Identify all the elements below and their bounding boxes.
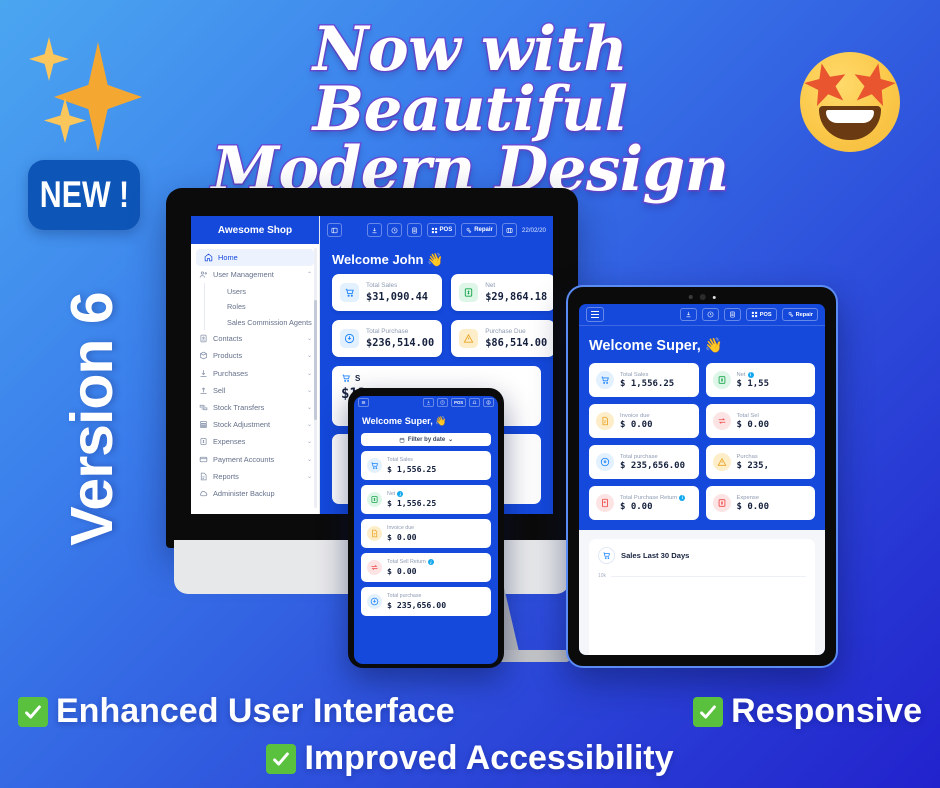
feature-list: Enhanced User Interface Responsive Impro… [0, 692, 940, 778]
stat-card-total-purchase[interactable]: Total purchase $ 235,656.00 [589, 445, 699, 479]
cart-icon [340, 283, 359, 302]
filter-by-date-button[interactable]: Filter by date ⌄ [361, 433, 491, 446]
sidebar-item-user-management[interactable]: User Management ⌃ [191, 266, 319, 283]
feature-responsive: Responsive [693, 692, 922, 731]
stat-value: $86,514.00 [485, 337, 547, 349]
camera-lens-icon [699, 294, 705, 300]
stat-card-body: Total Sell Returni $ 0.00 [387, 559, 434, 576]
phone-mockup: POS Welcome Super, 👋 Filter by date ⌄ To… [348, 388, 504, 668]
stat-label: Net [485, 282, 547, 289]
sparkle-small-icon [29, 37, 69, 81]
sidebar-item-label: Reports [213, 472, 239, 481]
emoji-teeth [826, 110, 874, 123]
grid-icon[interactable] [502, 223, 517, 237]
chevron-down-icon: ⌄ [307, 370, 312, 377]
sidebar-subitem-roles[interactable]: Roles [204, 299, 319, 315]
stat-label: Total Purchase [366, 328, 434, 335]
bell-icon[interactable] [469, 398, 480, 407]
cart-icon [596, 371, 614, 389]
chart-header: Sales Last 30 Days [598, 547, 806, 564]
stat-value: $29,864.18 [485, 291, 547, 303]
stat-card-total-sell-return[interactable]: Total Sell Returni $ 0.00 [361, 553, 491, 582]
check-mark-icon [693, 697, 723, 727]
stat-label: Total Sales [387, 457, 436, 463]
card-icon [199, 455, 208, 464]
download-icon [367, 594, 382, 609]
feature-improved-accessibility: Improved Accessibility [266, 739, 673, 778]
stat-value: $ 1,55 [737, 379, 770, 389]
stat-label: Total Purchase Returni [620, 495, 685, 501]
stat-card-body: Total Sales $ 1,556.25 [387, 457, 436, 474]
chart-title: Sales Last 30 Days [621, 551, 689, 560]
stat-label: Total Sel [737, 413, 770, 419]
stat-value: $ 1,556.25 [387, 498, 436, 508]
clock-icon[interactable] [437, 398, 448, 407]
stat-card-purchase-due[interactable]: Purchas $ 235, [706, 445, 816, 479]
clock-icon[interactable] [387, 223, 402, 237]
chevron-down-icon: ⌄ [307, 456, 312, 463]
sidebar-subitem-sales-commission-agents[interactable]: Sales Commission Agents [204, 315, 319, 331]
check-mark-icon [266, 744, 296, 774]
sidebar-item-payment-accounts[interactable]: Payment Accounts ⌄ [191, 450, 319, 467]
download-icon [199, 369, 208, 378]
return-doc-icon [596, 494, 614, 512]
hamburger-icon[interactable] [358, 398, 369, 407]
layers-icon [199, 420, 208, 429]
pos-button[interactable]: POS [746, 308, 777, 321]
new-badge: NEW ! [28, 160, 140, 230]
sidebar-item-sell[interactable]: Sell ⌄ [191, 382, 319, 399]
phone-frame: POS Welcome Super, 👋 Filter by date ⌄ To… [348, 388, 504, 668]
user-icon[interactable] [483, 398, 494, 407]
stat-card-total-sales[interactable]: Total Sales $ 1,556.25 [361, 451, 491, 480]
stat-value: $ 0.00 [387, 566, 434, 576]
stat-value: $ 0.00 [737, 420, 770, 430]
sidebar-item-label: Administer Backup [213, 489, 275, 498]
camera-dot-icon [689, 295, 693, 299]
stat-value: $31,090.44 [366, 291, 428, 303]
stat-label: Purchase Due [485, 328, 547, 335]
clock-icon[interactable] [702, 308, 719, 321]
headline-line-1: Now with Beautiful [313, 14, 628, 145]
feature-row-bottom: Improved Accessibility [0, 739, 940, 778]
stat-card-net[interactable]: Net $29,864.18 [451, 274, 553, 311]
new-badge-label: NEW ! [39, 174, 128, 216]
feature-row-top: Enhanced User Interface Responsive [0, 692, 940, 731]
sidebar-item-label: Sell [213, 386, 225, 395]
stat-value: $ 235, [737, 461, 770, 471]
sidebar-item-label: Expenses [213, 437, 245, 446]
phone-app-screen: POS Welcome Super, 👋 Filter by date ⌄ To… [354, 396, 498, 664]
chart-gridline [611, 576, 806, 577]
download-icon[interactable] [367, 223, 382, 237]
pos-button[interactable]: POS [427, 223, 457, 237]
repair-button[interactable]: Repair [782, 308, 818, 321]
home-icon [204, 253, 213, 262]
chevron-down-icon: ⌄ [307, 473, 312, 480]
stat-value: $236,514.00 [366, 337, 434, 349]
report-icon [199, 472, 208, 481]
sidebar-subitem-users[interactable]: Users [204, 283, 319, 299]
transfer-icon [199, 403, 208, 412]
warning-icon [459, 329, 478, 348]
stat-card-total-sell-return[interactable]: Total Sel $ 0.00 [706, 404, 816, 438]
pos-label: POS [454, 400, 463, 405]
banknote-icon [713, 371, 731, 389]
sidebar-item-expenses[interactable]: Expenses ⌄ [191, 433, 319, 450]
sales-last-30-days-chart: Sales Last 30 Days 10k [589, 539, 815, 655]
money-icon [713, 494, 731, 512]
info-icon[interactable]: i [428, 559, 434, 565]
invoice-icon [367, 526, 382, 541]
stat-card-body: Total Sel $ 0.00 [737, 413, 770, 430]
stat-label: Invoice due [620, 413, 653, 419]
sidebar-item-label: Stock Adjustment [213, 420, 270, 429]
box-icon [199, 351, 208, 360]
stat-card-net[interactable]: Neti $ 1,55 [706, 363, 816, 397]
download-icon [340, 329, 359, 348]
toolbar-date[interactable]: 22/02/20 [522, 227, 546, 234]
chevron-up-icon: ⌃ [307, 271, 312, 278]
stat-label: Neti [387, 491, 436, 497]
chevron-down-icon: ⌄ [307, 438, 312, 445]
return-icon [713, 412, 731, 430]
stat-card-body: Neti $ 1,556.25 [387, 491, 436, 508]
feature-label: Enhanced User Interface [56, 692, 455, 731]
wide-card-label: S [355, 374, 360, 383]
sidebar-item-label: Home [218, 253, 238, 262]
stat-card-body: Net $29,864.18 [485, 282, 547, 303]
stat-label: Total Sales [620, 372, 674, 378]
upload-icon [199, 386, 208, 395]
stat-card-body: Total Sales $31,090.44 [366, 282, 428, 303]
sidebar-item-label: Payment Accounts [213, 455, 274, 464]
stat-value: $ 0.00 [737, 502, 770, 512]
banknote-icon [459, 283, 478, 302]
tablet-welcome-title: Welcome Super, 👋 [579, 326, 825, 363]
cloud-icon [199, 489, 208, 498]
desktop-sidebar: Awesome Shop Home User Management ⌃ User… [191, 216, 320, 514]
chart-axis-row: 10k [598, 573, 806, 579]
stat-card-body: Total Sales $ 1,556.25 [620, 372, 674, 389]
return-icon [367, 560, 382, 575]
stat-label: Expense [737, 495, 770, 501]
download-icon [596, 453, 614, 471]
cart-icon [367, 458, 382, 473]
chart-y-tick: 10k [598, 573, 606, 579]
chevron-down-icon: ⌄ [307, 404, 312, 411]
stat-card-total-purchase-return[interactable]: Total Purchase Returni $ 0.00 [589, 486, 699, 520]
star-struck-emoji [800, 52, 900, 152]
sidebar-item-home[interactable]: Home [196, 249, 314, 266]
stat-value: $ 235,656.00 [387, 600, 446, 610]
stat-label: Total purchase [620, 454, 685, 460]
feature-label: Responsive [731, 692, 922, 731]
sidebar-item-label: Purchases [213, 369, 248, 378]
chevron-down-icon: ⌄ [307, 352, 312, 359]
sidebar-item-label: Products [213, 351, 242, 360]
users-icon [199, 270, 208, 279]
sidebar-scrollbar[interactable] [314, 248, 317, 508]
desktop-sidebar-menu: Home User Management ⌃ Users Roles Sales… [191, 244, 319, 502]
stat-card-invoice-due[interactable]: Invoice due $ 0.00 [589, 404, 699, 438]
stat-label-text: Total Sell Return [387, 559, 426, 565]
app-name: Awesome Shop [191, 216, 319, 244]
stat-label-text: Total Purchase Return [620, 495, 677, 501]
stat-card-body: Purchase Due $86,514.00 [485, 328, 547, 349]
stat-value: $ 1,556.25 [620, 379, 674, 389]
stat-label-text: Net [737, 372, 746, 378]
stat-card-body: Purchas $ 235, [737, 454, 770, 471]
desktop-toolbar: POS Repair 22/02/20 [320, 216, 553, 244]
stat-card-total-sales[interactable]: Total Sales $ 1,556.25 [589, 363, 699, 397]
stat-card-expense[interactable]: Expense $ 0.00 [706, 486, 816, 520]
stat-card-body: Total Purchase Returni $ 0.00 [620, 495, 685, 512]
stat-card-invoice-due[interactable]: Invoice due $ 0.00 [361, 519, 491, 548]
contact-icon [199, 334, 208, 343]
tablet-frame: POS Repair Welcome Super, 👋 Total Sales … [566, 285, 838, 668]
sensor-dot-icon [712, 296, 715, 299]
stat-card-body: Total purchase $ 235,656.00 [620, 454, 685, 471]
cart-icon [598, 547, 615, 564]
stat-card-total-purchase[interactable]: Total purchase $ 235,656.00 [361, 587, 491, 616]
sparkles-emoji [26, 32, 146, 157]
pos-label: POS [760, 312, 772, 318]
download-icon[interactable] [680, 308, 697, 321]
sidebar-item-label: Stock Transfers [213, 403, 264, 412]
chevron-down-icon: ⌄ [448, 436, 453, 443]
desktop-welcome-title: Welcome John 👋 [320, 244, 553, 274]
stat-card-net[interactable]: Neti $ 1,556.25 [361, 485, 491, 514]
sidebar-item-stock-transfers[interactable]: Stock Transfers ⌄ [191, 399, 319, 416]
stat-card-body: Invoice due $ 0.00 [620, 413, 653, 430]
stat-label: Total Sales [366, 282, 428, 289]
stat-label: Purchas [737, 454, 770, 460]
tablet-toolbar: POS Repair [579, 304, 825, 326]
repair-label: Repair [796, 312, 813, 318]
stat-label: Total Sell Returni [387, 559, 434, 565]
tablet-app-screen: POS Repair Welcome Super, 👋 Total Sales … [579, 304, 825, 655]
stat-card-body: Total Purchase $236,514.00 [366, 328, 434, 349]
stat-value: $ 0.00 [620, 420, 653, 430]
stat-card-body: Neti $ 1,55 [737, 372, 770, 389]
info-icon[interactable]: i [748, 372, 754, 378]
pos-label: POS [440, 227, 453, 233]
cart-icon [341, 373, 351, 383]
stat-card-body: Expense $ 0.00 [737, 495, 770, 512]
chevron-down-icon: ⌄ [307, 335, 312, 342]
stat-label: Neti [737, 372, 770, 378]
chevron-down-icon: ⌄ [307, 387, 312, 394]
chevron-down-icon: ⌄ [307, 421, 312, 428]
calculator-icon[interactable] [407, 223, 422, 237]
stat-label-text: Net [387, 491, 395, 497]
sidebar-item-reports[interactable]: Reports ⌄ [191, 468, 319, 485]
sidebar-item-purchases[interactable]: Purchases ⌄ [191, 365, 319, 382]
info-icon[interactable]: i [679, 495, 685, 501]
banknote-icon [367, 492, 382, 507]
feature-enhanced-user-interface: Enhanced User Interface [18, 692, 455, 731]
stat-card-body: Total purchase $ 235,656.00 [387, 593, 446, 610]
stat-label: Invoice due [387, 525, 417, 531]
stat-card-total-purchase[interactable]: Total Purchase $236,514.00 [332, 320, 442, 357]
calendar-icon [399, 437, 405, 443]
hamburger-icon[interactable] [586, 307, 604, 323]
repair-label: Repair [474, 227, 493, 233]
wide-card-header: S [341, 373, 532, 383]
money-icon [199, 437, 208, 446]
stat-card-purchase-due[interactable]: Purchase Due $86,514.00 [451, 320, 553, 357]
pos-button[interactable]: POS [451, 398, 466, 407]
stat-value: $ 0.00 [620, 502, 685, 512]
tablet-chart-section: Sales Last 30 Days 10k [579, 530, 825, 655]
warning-icon [713, 453, 731, 471]
feature-label: Improved Accessibility [304, 739, 673, 778]
invoice-icon [596, 412, 614, 430]
sidebar-item-contacts[interactable]: Contacts ⌄ [191, 330, 319, 347]
info-icon[interactable]: i [397, 491, 403, 497]
sidebar-item-label: Contacts [213, 334, 242, 343]
sidebar-scrollbar-thumb[interactable] [314, 300, 317, 420]
tablet-mockup: POS Repair Welcome Super, 👋 Total Sales … [566, 285, 838, 668]
sidebar-item-products[interactable]: Products ⌄ [191, 347, 319, 364]
phone-welcome-title: Welcome Super, 👋 [354, 409, 498, 433]
calculator-icon[interactable] [724, 308, 741, 321]
stat-label: Total purchase [387, 593, 446, 599]
sidebar-toggle-icon[interactable] [327, 223, 342, 237]
version-label: Version 6 [58, 269, 126, 569]
repair-button[interactable]: Repair [461, 223, 497, 237]
tablet-stat-cards: Total Sales $ 1,556.25 Neti $ 1,55 Invoi… [579, 363, 825, 520]
phone-toolbar: POS [354, 396, 498, 409]
tablet-camera-dots [689, 294, 716, 300]
stat-card-body: Invoice due $ 0.00 [387, 525, 417, 542]
sidebar-item-administer-backup[interactable]: Administer Backup [191, 485, 319, 502]
stat-card-total-sales[interactable]: Total Sales $31,090.44 [332, 274, 442, 311]
sidebar-item-stock-adjustment[interactable]: Stock Adjustment ⌄ [191, 416, 319, 433]
check-mark-icon [18, 697, 48, 727]
stat-value: $ 0.00 [387, 532, 417, 542]
desktop-stat-cards: Total Sales $31,090.44 Net $29,864.18 [320, 274, 553, 357]
stat-value: $ 1,556.25 [387, 464, 436, 474]
filter-label: Filter by date [408, 437, 445, 443]
page-title: Now with Beautiful Modern Design [150, 20, 790, 199]
sidebar-item-label: User Management [213, 270, 274, 279]
download-icon[interactable] [423, 398, 434, 407]
stat-value: $ 235,656.00 [620, 461, 685, 471]
